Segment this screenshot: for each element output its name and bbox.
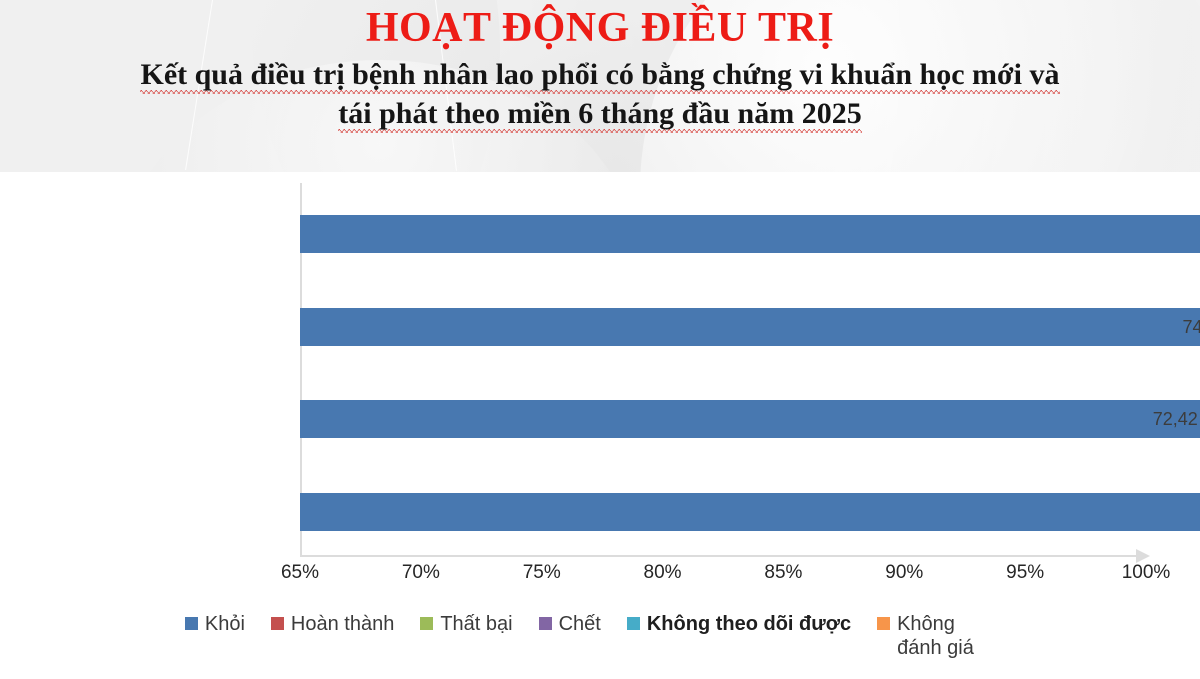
x-axis-tick-label: 100%	[1106, 562, 1186, 584]
legend-label: Không đánh giá	[897, 612, 989, 660]
x-axis-tick-label: 80%	[623, 562, 703, 584]
legend-swatch-icon	[185, 617, 198, 630]
legend-swatch-icon	[420, 617, 433, 630]
legend-item[interactable]: Khỏi	[185, 612, 245, 636]
x-axis-arrow-icon	[1136, 549, 1150, 563]
x-axis-tick-label: 95%	[985, 562, 1065, 584]
legend-item[interactable]: Chết	[539, 612, 601, 636]
bar-row: Miền Bắc72,4217,870,262,234,272,96	[0, 400, 1200, 438]
segment-value-label: 74,88	[300, 308, 1200, 346]
legend-swatch-icon	[627, 617, 640, 630]
plot-area: Miền Nam79,639,960,863,414,421,73Miền Tr…	[0, 172, 1200, 562]
legend-swatch-icon	[271, 617, 284, 630]
legend-label: Khỏi	[205, 612, 245, 636]
stacked-bar-chart: Miền Nam79,639,960,863,414,421,73Miền Tr…	[0, 172, 1200, 679]
page-subtitle-line-1: Kết quả điều trị bệnh nhân lao phổi có b…	[100, 55, 1100, 94]
segment-value-label: 77,27	[300, 493, 1200, 531]
legend-item[interactable]: Không đánh giá	[877, 612, 989, 660]
subtitle-text-1: Kết quả điều trị bệnh nhân lao phổi có b…	[140, 58, 1059, 94]
chart-page: HOẠT ĐỘNG ĐIỀU TRỊ Kết quả điều trị bệnh…	[0, 0, 1200, 679]
legend-label: Thất bại	[440, 612, 512, 636]
bar-segment[interactable]: 74,88	[300, 308, 1200, 346]
legend-item[interactable]: Không theo dõi được	[627, 612, 851, 636]
legend-item[interactable]: Hoàn thành	[271, 612, 394, 636]
page-subtitle-line-2: tái phát theo miền 6 tháng đầu năm 2025	[100, 94, 1100, 133]
segment-value-label: 79,63	[300, 215, 1200, 253]
x-axis-tick-label: 75%	[502, 562, 582, 584]
bar-row: Miền Nam79,639,960,863,414,421,73	[0, 215, 1200, 253]
x-axis-tick-label: 70%	[381, 562, 461, 584]
bar-row: Toàn quốc77,2712,770,673,014,401,88	[0, 493, 1200, 531]
x-axis-tick-label: 85%	[743, 562, 823, 584]
chart-legend: KhỏiHoàn thànhThất bạiChếtKhông theo dõi…	[0, 612, 1200, 660]
segment-value-label: 72,42	[300, 400, 1200, 438]
x-axis-line	[300, 555, 1138, 557]
page-title: HOẠT ĐỘNG ĐIỀU TRỊ	[0, 4, 1200, 52]
x-axis-tick-label: 90%	[864, 562, 944, 584]
legend-item[interactable]: Thất bại	[420, 612, 512, 636]
header-banner: HOẠT ĐỘNG ĐIỀU TRỊ Kết quả điều trị bệnh…	[0, 0, 1200, 172]
bar-segment[interactable]: 79,63	[300, 215, 1200, 253]
legend-label: Chết	[559, 612, 601, 636]
legend-label: Hoàn thành	[291, 612, 394, 636]
legend-swatch-icon	[539, 617, 552, 630]
bar-segment[interactable]: 72,42	[300, 400, 1200, 438]
bar-row: Miền Trung - Tây Nguyên74,8816,360,542,5…	[0, 308, 1200, 346]
x-axis-tick-label: 65%	[260, 562, 340, 584]
subtitle-text-2: tái phát theo miền 6 tháng đầu năm 2025	[338, 97, 861, 133]
legend-label: Không theo dõi được	[647, 612, 851, 636]
bar-segment[interactable]: 77,27	[300, 493, 1200, 531]
page-subtitle: Kết quả điều trị bệnh nhân lao phổi có b…	[100, 55, 1100, 133]
legend-swatch-icon	[877, 617, 890, 630]
